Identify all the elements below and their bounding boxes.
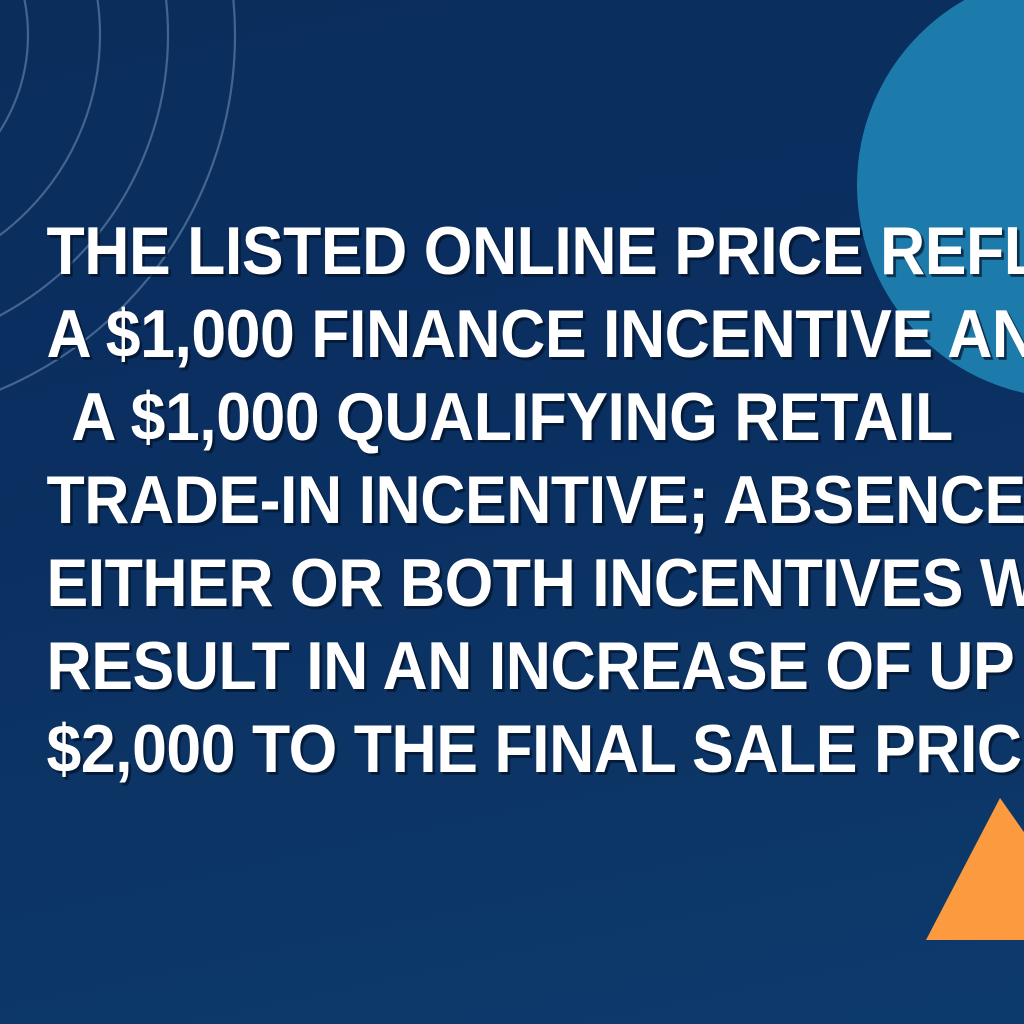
disclaimer-line-2: A $1,000 FINANCE INCENTIVE AND (46, 293, 977, 376)
promo-disclaimer-graphic: THE LISTED ONLINE PRICE REFLECTS A $1,00… (0, 0, 1024, 1024)
disclaimer-text-block: THE LISTED ONLINE PRICE REFLECTS A $1,00… (0, 210, 1024, 791)
disclaimer-line-4: TRADE-IN INCENTIVE; ABSENCE OF (46, 459, 977, 542)
disclaimer-line-3: A $1,000 QUALIFYING RETAIL (46, 376, 977, 459)
disclaimer-line-6: RESULT IN AN INCREASE OF UP TO (46, 625, 977, 708)
disclaimer-line-7: $2,000 TO THE FINAL SALE PRICE. (46, 708, 977, 791)
orange-triangle-accent (920, 798, 1024, 940)
disclaimer-line-5: EITHER OR BOTH INCENTIVES WILL (46, 542, 977, 625)
disclaimer-line-1: THE LISTED ONLINE PRICE REFLECTS (46, 210, 977, 293)
